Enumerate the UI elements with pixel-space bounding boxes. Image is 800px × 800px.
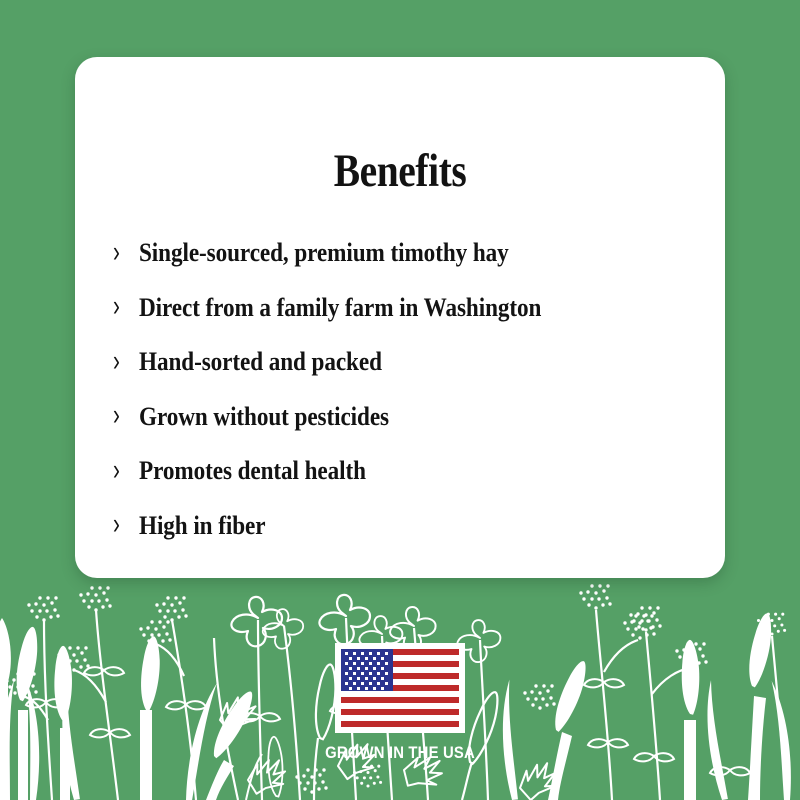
chevron-right-icon: › — [113, 292, 134, 322]
poster-root: Benefits › Single-sourced, premium timot… — [0, 0, 800, 800]
chevron-right-icon: › — [113, 347, 134, 377]
grown-in-usa-badge: GROWN IN THE USA — [0, 643, 800, 763]
list-item: › High in fiber — [113, 498, 713, 553]
list-item: › Single-sourced, premium timothy hay — [113, 225, 713, 280]
benefit-label: Direct from a family farm in Washington — [139, 292, 641, 322]
chevron-right-icon: › — [113, 238, 134, 268]
chevron-right-icon: › — [113, 401, 134, 431]
chevron-right-icon: › — [113, 456, 134, 486]
list-item: › Grown without pesticides — [113, 389, 713, 444]
list-item: › Promotes dental health — [113, 443, 713, 498]
benefit-label: Grown without pesticides — [139, 401, 641, 431]
benefit-label: Promotes dental health — [139, 455, 641, 485]
chevron-right-icon: › — [113, 510, 134, 540]
list-item: › Hand-sorted and packed — [113, 334, 713, 389]
benefit-label: Hand-sorted and packed — [139, 346, 641, 376]
benefit-label: Single-sourced, premium timothy hay — [139, 237, 641, 267]
benefits-card: Benefits › Single-sourced, premium timot… — [75, 57, 725, 578]
page-title: Benefits — [127, 145, 673, 197]
usa-flag-icon — [335, 643, 465, 733]
list-item: › Direct from a family farm in Washingto… — [113, 280, 713, 335]
benefit-label: High in fiber — [139, 510, 641, 540]
grown-in-usa-label: GROWN IN THE USA — [40, 744, 760, 763]
benefits-list: › Single-sourced, premium timothy hay › … — [113, 225, 713, 552]
